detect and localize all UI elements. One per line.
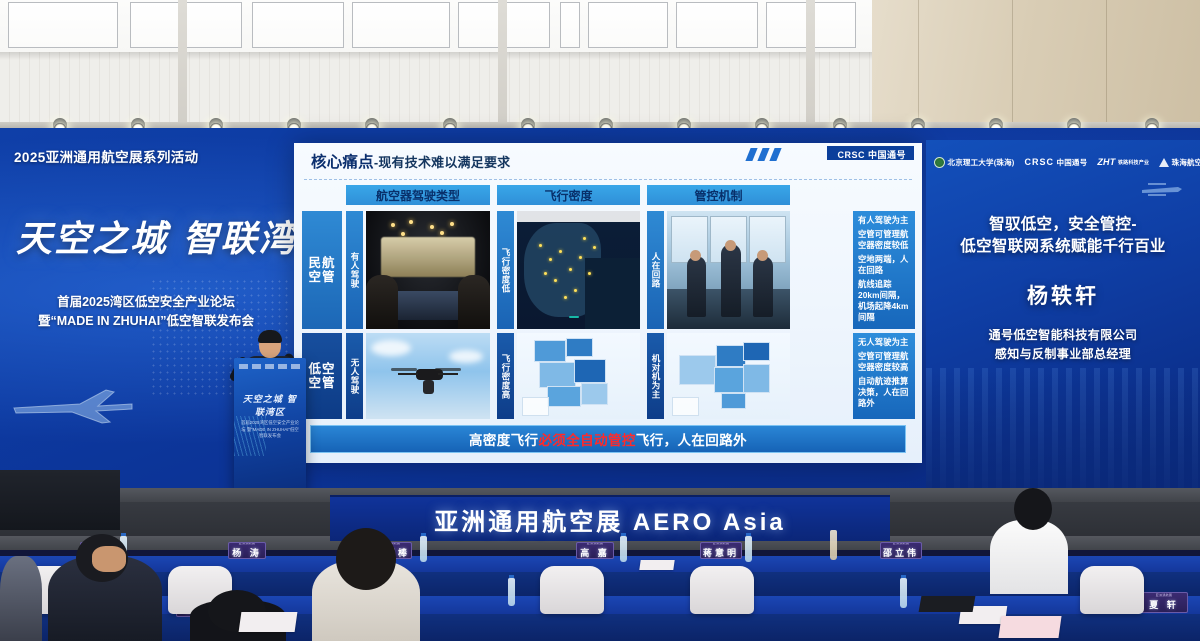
note-line: 航线追踪20km间隔，机场起降4km间隔 [858,279,910,323]
talk-title-line-1: 智驭低空，安全管控- [932,214,1194,236]
speaker-hair [258,330,282,343]
nameplate-subtitle: 亚洲通航展 [1156,594,1173,597]
chair [540,566,604,614]
logo-label: 中国通号 [1057,157,1088,168]
slide-divider [304,179,912,180]
note-box-low-altitude-atc: 无人驾驶为主 空管可管理航空器密度较高 自动航迹推算决策，人在回路外 [853,333,915,419]
note-box-civil-atc: 有人驾驶为主 空管可管理航空器密度较低 空地两端，人在回路 航线追踪20km间隔… [853,211,915,329]
photo-traffic-map [517,211,640,329]
footer-part-2: 飞行，人在回路外 [636,429,747,449]
event-series-title: 2025亚洲通用航空展系列活动 [14,146,199,166]
photo-drone [366,333,490,419]
column-header-control-mech: 管控机制 [647,185,790,205]
left-side-shadow [0,470,120,530]
slide-title: 核心痛点-现有技术难以满足要求 [311,150,510,172]
speaker-org-line-2: 感知与反制事业部总经理 [932,345,1194,364]
photo-china-map [667,333,790,419]
row-label-low-altitude-atc: 低空空管 [302,333,342,419]
column-header-aircraft-type: 航空器驾驶类型 [346,185,490,205]
window-pane [352,2,450,48]
sublabel-unmanned: 无人驾驶 [346,333,363,419]
window-pane [8,2,118,48]
laptop [919,596,976,612]
note-line: 有人驾驶为主 [858,215,910,226]
event-subtitle-line-2: 暨“MADE IN ZHUHAI”低空智联发布会 [12,312,280,331]
slide-title-main: 核心痛点 [311,154,374,171]
logo-label: ZHT [1097,157,1115,167]
aircraft-graphic-icon [10,374,140,424]
event-subtitle-line-1: 首届2025湾区低空安全产业论坛 [12,293,280,312]
event-subtitle: 首届2025湾区低空安全产业论坛 暨“MADE IN ZHUHAI”低空智联发布… [12,293,280,332]
sublabel-manned: 有人驾驶 [346,211,363,329]
speaker-name: 杨轶轩 [932,280,1194,310]
window-pane [560,2,580,48]
paper-document [239,612,298,632]
note-line: 自动航迹推算决策，人在回路外 [858,376,910,409]
note-line: 空管可管理航空器密度较低 [858,229,910,251]
city-skyline-graphic [926,368,1200,488]
nameplate-subtitle: 亚洲通航展 [893,542,910,545]
podium-subtitle: 首届2025湾区低空安全产业论坛 暨“MADE IN ZHUHAI”低空智联发布… [240,420,300,440]
audience-person-head [1014,488,1052,530]
logo-label: CRSC [1025,157,1055,167]
speaking-podium: 天空之城 智联湾区 首届2025湾区低空安全产业论坛 暨“MADE IN ZHU… [234,358,306,490]
nameplate: 亚洲通航展 邵立伟 [880,542,922,559]
window-pane [252,2,344,48]
slide-title-rest: -现有技术难以满足要求 [374,155,511,170]
slide-footer-conclusion: 高密度飞行必须全自动管控飞行，人在回路外 [310,425,906,453]
nameplate: 亚洲通航展 蒋意明 [700,542,742,559]
nameplate-subtitle: 亚洲通航展 [587,542,604,545]
speaker-org-line-1: 通号低空智能科技有限公司 [932,326,1194,345]
note-line: 无人驾驶为主 [858,337,910,348]
water-bottle [420,536,427,562]
presentation-slide: 核心痛点-现有技术难以满足要求 CRSC 中国通号 航空器驾驶类型 飞行密度 管… [294,143,922,463]
audience-person [990,520,1068,594]
audience-person-face [92,546,126,572]
window-pane [588,2,668,48]
audience-person-head [336,528,396,590]
footer-highlight: 必须全自动管控 [538,429,635,449]
stage-banner: 亚洲通用航空展 AERO Asia [330,495,890,541]
water-bottle [620,536,627,562]
slide-decor-bars [748,148,794,161]
thermos-bottle [830,530,837,560]
chair [1080,566,1144,614]
podium-slogan: 天空之城 智联湾区 [240,392,300,418]
footer-part-1: 高密度飞行 [469,429,539,449]
nameplate-name: 蒋意明 [703,546,739,559]
nameplate: 亚洲通航展 夏 轩 [1140,592,1188,613]
sponsor-logo-bar: 北京理工大学(珠海) CRSC 中国通号 ZHT 铁路科技产业 珠海航空院 [934,153,1192,171]
photo-cockpit [366,211,490,329]
slide-brand-label: CRSC 中国通号 [827,146,914,160]
logo-label: 北京理工大学(珠海) [948,157,1015,168]
nameplate-name: 高 嘉 [580,546,610,559]
logo-label: 珠海航空院 [1172,157,1200,168]
nameplate-name: 邵立伟 [883,546,919,559]
sublabel-machine-to-machine: 机对机为主 [647,333,664,419]
podium-logo-strip [239,364,301,369]
audience-person [0,556,42,641]
nameplate-name: 夏 轩 [1149,598,1179,611]
nameplate-subtitle: 亚洲通航展 [713,542,730,545]
nameplate: 亚洲通航展 杨 涛 [228,542,266,559]
water-bottle [900,578,907,608]
stage-banner-text: 亚洲通用航空展 AERO Asia [434,502,785,537]
paper-document [639,560,674,570]
talk-title-line-2: 低空智联网系统赋能千行百业 [932,236,1194,258]
note-line: 空管可管理航空器密度较高 [858,351,910,373]
drone-graphic-icon [1134,178,1186,200]
logo-zhuhai-aero-institute: 珠海航空院 [1159,157,1200,168]
photo-regional-map [517,333,640,419]
row-label-civil-atc: 民航空管 [302,211,342,329]
photo-control-tower [667,211,790,329]
university-emblem-icon [934,157,945,168]
sublabel-density-high: 飞行密度高 [497,333,514,419]
talk-title: 智驭低空，安全管控- 低空智联网系统赋能千行百业 [932,214,1194,259]
triangle-icon [1159,158,1169,167]
nameplate-name: 杨 涛 [232,546,262,559]
sublabel-human-in-loop: 人在回路 [647,211,664,329]
led-right-panel: 北京理工大学(珠海) CRSC 中国通号 ZHT 铁路科技产业 珠海航空院 智驭… [926,140,1200,488]
paper-document [998,616,1061,638]
wall-shadow [0,52,880,60]
logo-bit-zhuhai: 北京理工大学(珠海) [934,157,1015,168]
nameplate: 亚洲通航展 高 嘉 [576,542,614,559]
logo-crsc: CRSC 中国通号 [1025,157,1088,168]
note-line: 空地两端，人在回路 [858,254,910,276]
water-bottle [508,578,515,606]
sublabel-density-low: 飞行密度低 [497,211,514,329]
water-bottle [745,536,752,562]
logo-zht: ZHT 铁路科技产业 [1097,157,1149,167]
event-hero-slogan: 天空之城 智联湾区 [16,210,278,262]
conference-photo-scene: 2025亚洲通用航空展系列活动 天空之城 智联湾区 首届2025湾区低空安全产业… [0,0,1200,641]
window-pane [676,2,758,48]
column-header-flight-density: 飞行密度 [497,185,640,205]
chair [690,566,754,614]
slide-header: 核心痛点-现有技术难以满足要求 CRSC 中国通号 [294,143,922,179]
speaker-affiliation: 通号低空智能科技有限公司 感知与反制事业部总经理 [932,326,1194,363]
nameplate-subtitle: 亚洲通航展 [239,542,256,545]
logo-label: 铁路科技产业 [1118,159,1149,166]
